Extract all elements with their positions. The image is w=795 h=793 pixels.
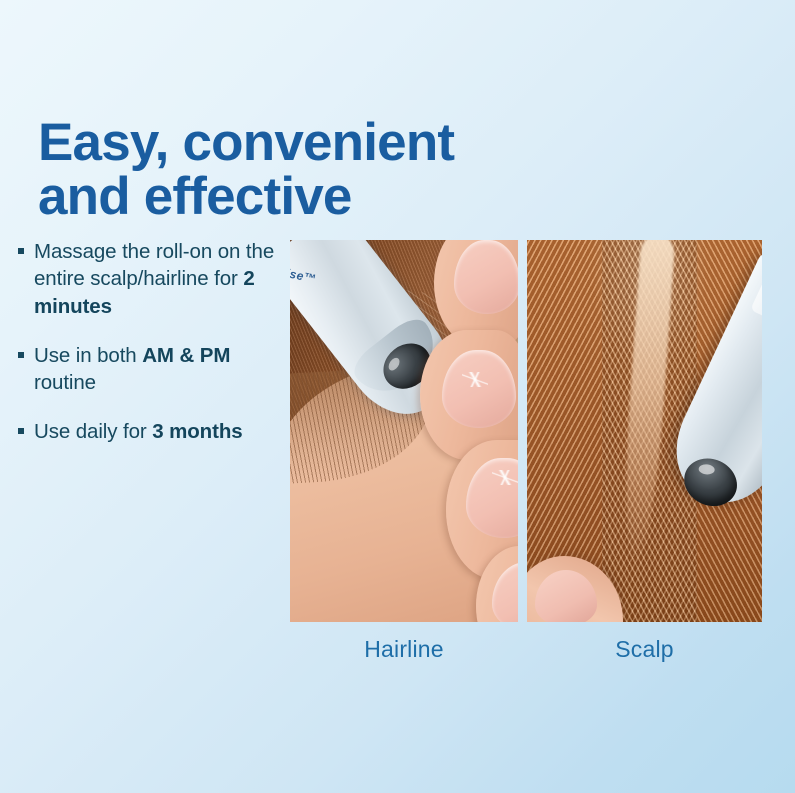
bullet-square-icon [18, 428, 24, 434]
list-item: Use in both AM & PM routine [18, 342, 286, 397]
instruction-text-lead: Use in both [34, 344, 142, 367]
fingernail [442, 350, 516, 428]
list-item: Massage the roll-on on the entire scalp/… [18, 238, 286, 320]
headline-line-1: Easy, convenient [38, 116, 558, 170]
fingernail [466, 458, 518, 538]
instruction-list: Massage the roll-on on the entire scalp/… [18, 238, 286, 446]
bullet-square-icon [18, 352, 24, 358]
promo-card: Easy, convenient and effective Massage t… [0, 0, 795, 793]
fingernail [492, 562, 518, 622]
list-item: Use daily for 3 months [18, 418, 286, 445]
page-title: Easy, convenient and effective [38, 116, 558, 224]
nail-decal-icon [462, 372, 488, 387]
bullet-square-icon [18, 248, 24, 254]
instruction-emphasis: AM & PM [142, 344, 230, 367]
applicator-label [750, 274, 762, 340]
photo-scalp-scene [527, 240, 762, 622]
instruction-emphasis: 3 months [152, 420, 242, 443]
instruction-text-lead: Massage the roll-on on the entire scalp/… [34, 240, 274, 290]
instruction-text-tail: routine [34, 371, 96, 394]
photo-strip: vise™ [290, 240, 762, 622]
hand-fingers [400, 240, 518, 622]
brand-label: vise™ [290, 265, 317, 286]
nail-decal-icon [492, 470, 518, 485]
instruction-text-lead: Use daily for [34, 420, 152, 443]
fingernail [454, 240, 518, 314]
photo-hairline-scene: vise™ [290, 240, 518, 622]
caption-hairline: Hairline [290, 636, 518, 663]
thumbnail-nail [535, 570, 597, 622]
photo-hairline: vise™ [290, 240, 518, 622]
headline-line-2: and effective [38, 170, 558, 224]
caption-scalp: Scalp [527, 636, 762, 663]
photo-scalp [527, 240, 762, 622]
